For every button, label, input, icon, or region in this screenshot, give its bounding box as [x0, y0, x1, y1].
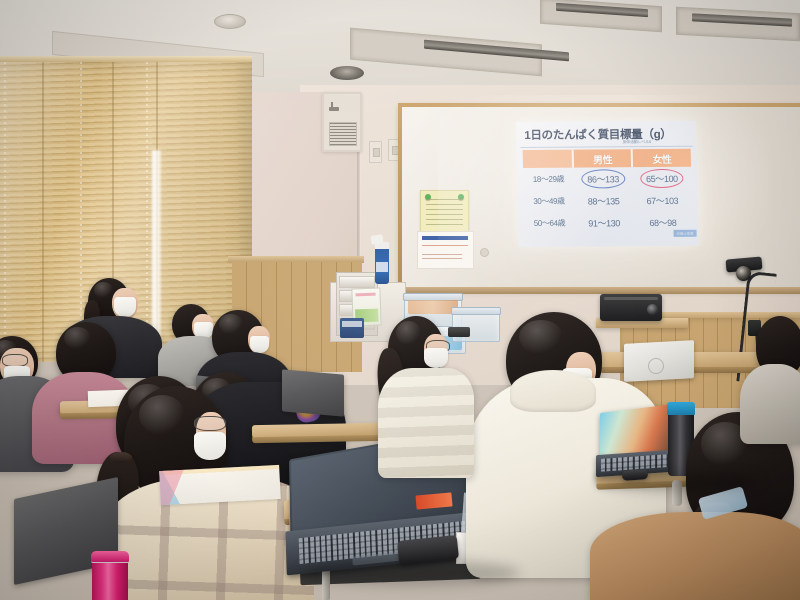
face-mask: [424, 348, 448, 368]
face-mask: [250, 336, 269, 353]
table-cell-male-highlighted: 86〜133: [573, 167, 632, 189]
blind-cord[interactable]: [4, 62, 6, 362]
table-row: 30〜49歳 88〜135 67〜103: [524, 189, 693, 212]
slide-watermark: 栄養の基礎: [674, 230, 697, 237]
projector-speaker-unit: [600, 294, 662, 321]
student-body-puffer-jacket: [378, 368, 474, 478]
blue-ellipse-annotation: [581, 169, 625, 188]
student-desk: [252, 423, 382, 438]
wall-poster: [420, 190, 469, 234]
slide-content: 1日のたんぱく質目標量（g） 身体活動レベルⅡ 男性 女性 18〜29歳: [516, 121, 699, 247]
notice-header-bar: [422, 236, 468, 240]
desk-shadow: [300, 560, 520, 586]
bin-lid: [451, 307, 501, 315]
worksheet-graphics: [159, 465, 281, 505]
table-cell-male: 88〜135: [574, 189, 633, 211]
wall-vent-box: [322, 92, 362, 152]
light-switch-plate-1[interactable]: [369, 141, 382, 163]
projector-lens-icon: [647, 304, 658, 315]
nutrition-table: 男性 女性 18〜29歳 86〜133: [523, 149, 693, 234]
red-ellipse-annotation: [640, 168, 684, 187]
whiteboard-notice: [417, 231, 474, 269]
notice-line-block: [422, 245, 468, 248]
table-header-female: 女性: [632, 149, 691, 167]
round-ceiling-vent: [330, 66, 364, 80]
window-light-gap: [152, 150, 161, 340]
table-cell-age: 30〜49歳: [524, 190, 575, 212]
vent-latch-icon: [329, 107, 339, 111]
table-header-row: 男性 女性: [523, 149, 691, 168]
blind-cord[interactable]: [80, 62, 82, 362]
thermos-cap[interactable]: [91, 551, 129, 563]
table-row: 50〜64歳 91〜130 68〜98: [524, 211, 693, 234]
slide-title-rule: [521, 146, 693, 148]
blue-spray-bottle[interactable]: [375, 242, 389, 284]
student-laptop[interactable]: [282, 369, 344, 416]
classroom-photo: 1日のたんぱく質目標量（g） 身体活動レベルⅡ 男性 女性 18〜29歳: [0, 0, 800, 600]
blind-divider: [42, 62, 44, 362]
table-cell-age: 50〜64歳: [524, 212, 575, 234]
table-cell-female-highlighted: 65〜100: [632, 167, 691, 189]
face-mask: [114, 297, 136, 317]
bottle-cap[interactable]: [667, 402, 695, 415]
hair-tie: [110, 452, 132, 463]
poster-text-lines: [426, 199, 463, 225]
face-mask: [194, 432, 226, 460]
table-header-male: 男性: [573, 149, 632, 167]
laptop-logo-icon: [648, 358, 664, 374]
bottle-label: [376, 262, 388, 272]
table-cell-male: 91〜130: [574, 211, 633, 233]
whiteboard-magnet: [480, 248, 489, 257]
blind-cord[interactable]: [146, 62, 148, 362]
table-row: 18〜29歳 86〜133 65〜100: [523, 167, 692, 190]
clear-storage-bin-3: [452, 310, 500, 342]
student-body: [740, 364, 800, 444]
navy-storage-box: [340, 318, 364, 338]
vent-grille-icon: [329, 122, 357, 146]
notice-line-block-2: [422, 254, 462, 262]
table-header-blank: [523, 150, 574, 168]
desk-shadow: [600, 472, 760, 492]
projected-slide: 1日のたんぱく質目標量（g） 身体活動レベルⅡ 男性 女性 18〜29歳: [516, 121, 699, 247]
black-desk-item: [448, 327, 470, 337]
desk-edge: [252, 435, 382, 443]
student-body-camel-sweater: [590, 512, 800, 600]
slide-subtitle: 身体活動レベルⅡ: [622, 139, 692, 145]
hoodie-hood: [510, 370, 596, 412]
table-cell-age: 18〜29歳: [523, 168, 574, 190]
drawer[interactable]: [339, 276, 375, 288]
glasses-icon: [194, 416, 226, 431]
smoke-detector-icon: [214, 14, 246, 29]
table-cell-female: 67〜103: [633, 189, 692, 211]
worksheet: [159, 465, 281, 505]
